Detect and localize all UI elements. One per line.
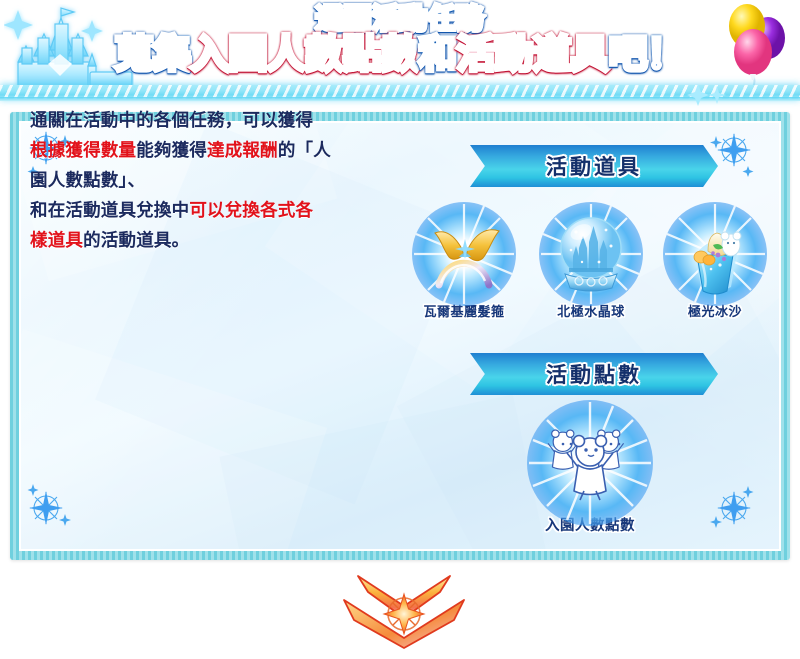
double-chevron-down-arrow-icon	[334, 572, 474, 650]
page-header: 通關活動任務 蒐集入園人數點數和活動道具吧！	[0, 0, 800, 100]
snow-globe-icon	[545, 208, 637, 300]
winged-headband-icon	[418, 208, 510, 300]
section-banner-event-items: 活動道具	[470, 145, 718, 187]
description-line-3: 園人數點數」、	[30, 166, 390, 196]
title-part-event-items: 活動道具	[457, 35, 609, 73]
title-line-1: 通關活動任務	[0, 6, 800, 33]
description-line-2: 根據獲得數量能夠獲得達成報酬的「人	[30, 136, 390, 166]
title-part-suffix: 吧！	[609, 35, 685, 73]
points-item[interactable]: 入園人數點數	[526, 413, 654, 535]
description-line-5: 樣道具的活動道具。	[30, 226, 390, 256]
snowflake-icon	[24, 476, 78, 530]
banner-label: 活動點數	[546, 359, 642, 389]
title-part-collect: 蒐集	[115, 35, 191, 73]
event-description-text: 通關在活動中的各個任務，可以獲得 根據獲得數量能夠獲得達成報酬的「人 園人數點數…	[30, 106, 390, 256]
banner-label: 活動道具	[546, 151, 642, 181]
reward-item[interactable]: 瓦爾基麗髮箍	[406, 208, 522, 320]
title-part-and: 和	[419, 35, 457, 73]
title-part-admission-points: 入園人數點數	[191, 35, 419, 73]
title-line-1-text: 通關活動任務	[316, 6, 484, 33]
reward-item[interactable]: 北極水晶球	[533, 208, 649, 320]
reward-item[interactable]: 極光冰沙	[657, 208, 773, 320]
description-line-4: 和在活動道具兌換中可以兌換各式各	[30, 196, 390, 226]
sparkle-icon	[686, 84, 730, 110]
snowflake-icon	[702, 476, 756, 530]
event-title-block: 通關活動任務 蒐集入園人數點數和活動道具吧！	[0, 6, 800, 73]
section-banner-event-points: 活動點數	[470, 353, 718, 395]
header-divider-glow	[0, 97, 800, 101]
polar-bear-trio-icon	[536, 413, 644, 513]
description-line-1: 通關在活動中的各個任務，可以獲得	[30, 106, 390, 136]
shaved-ice-icon	[669, 208, 761, 300]
title-line-2: 蒐集入園人數點數和活動道具吧！	[0, 35, 800, 73]
